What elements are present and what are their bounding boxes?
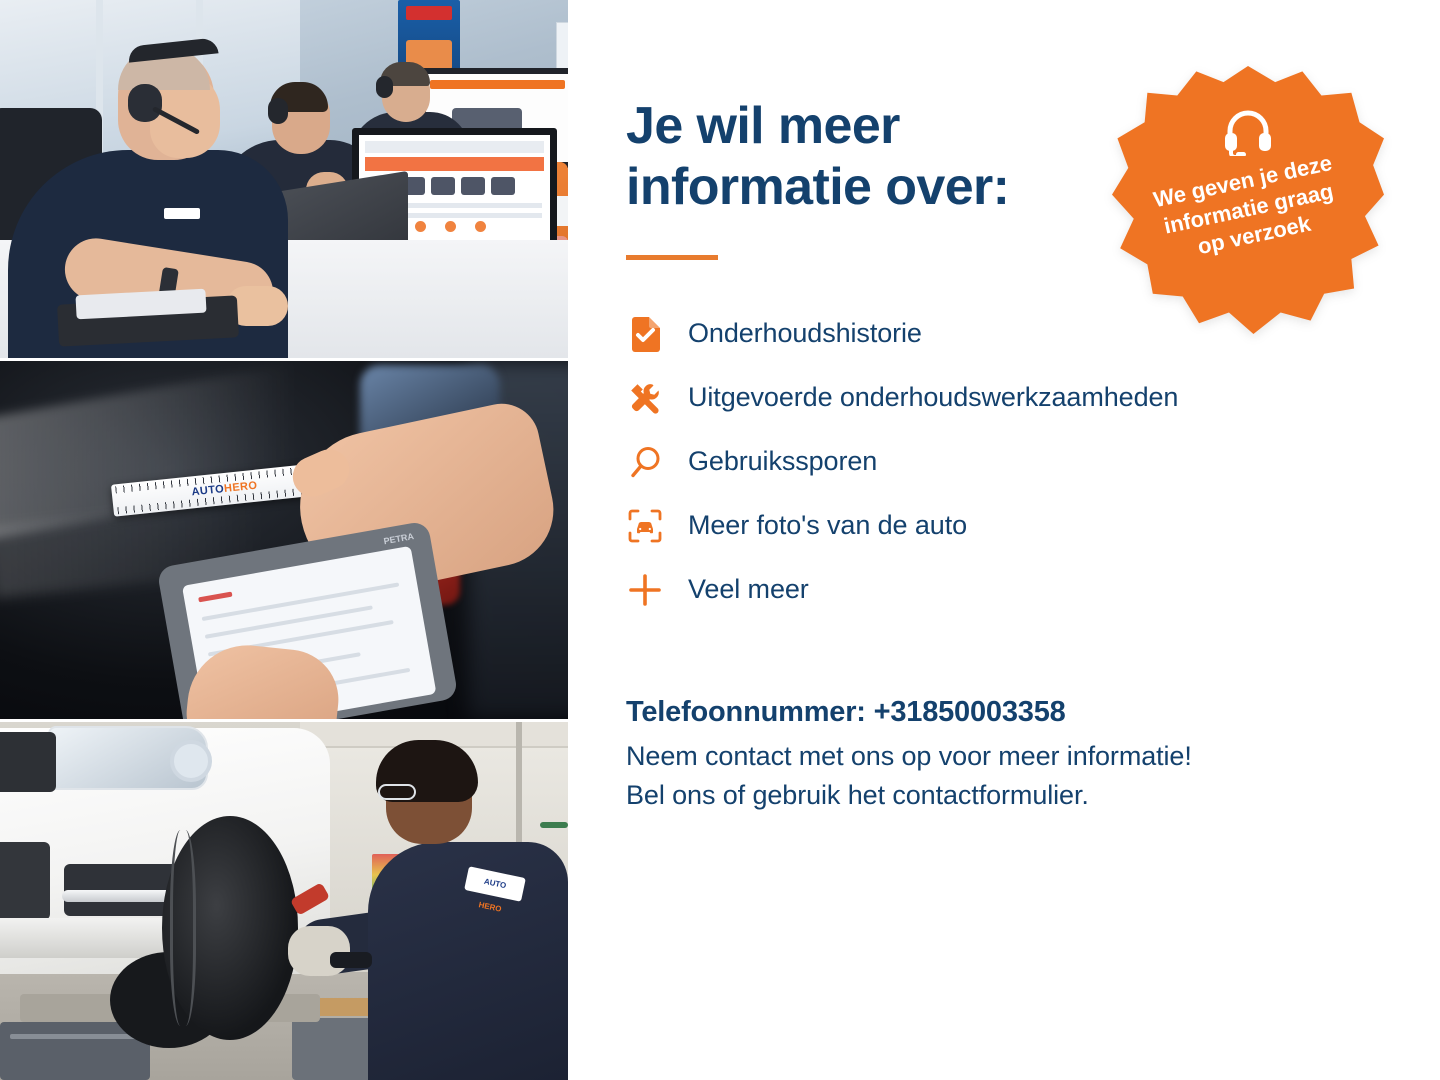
title-underline <box>626 255 718 260</box>
feature-label: Gebruikssporen <box>688 446 877 477</box>
feature-label: Meer foto's van de auto <box>688 510 967 541</box>
phone-number: Telefoonnummer: +31850003358 <box>626 696 1380 729</box>
promo-banner: AUTOHERO PETRA <box>0 0 1440 1080</box>
feature-item-meer-fotos: Meer foto's van de auto <box>626 494 1380 558</box>
contact-message: Neem contact met ons op voor meer inform… <box>626 737 1380 816</box>
feature-item-veel-meer: Veel meer <box>626 558 1380 622</box>
feature-label: Onderhoudshistorie <box>688 318 922 349</box>
feature-list: Onderhoudshistorie Uitgevoerde onderhoud… <box>626 302 1380 622</box>
car-grille <box>0 732 56 792</box>
loose-tire <box>162 816 298 1040</box>
tire-tread <box>170 830 196 1026</box>
tools-icon <box>626 379 664 417</box>
technician-glasses <box>378 784 416 800</box>
car-thumbnail <box>491 177 515 195</box>
technician-glove <box>288 926 350 976</box>
feature-icon <box>415 221 426 232</box>
contact-block: Telefoonnummer: +31850003358 Neem contac… <box>626 696 1380 816</box>
feature-item-gebruikssporen: Gebruikssporen <box>626 430 1380 494</box>
car-frame-icon <box>626 507 664 545</box>
call-center-agents-photo <box>0 0 568 358</box>
tablet-row <box>205 605 373 638</box>
feature-icon <box>445 221 456 232</box>
agent-1-headset-cup <box>128 84 162 122</box>
technician-wristband <box>330 952 372 968</box>
tablet-row <box>202 582 400 621</box>
car-side-intake <box>0 842 50 920</box>
workshop-tire-change-photo: AUTOHERO <box>0 722 568 1080</box>
car-inspection-ruler-photo: AUTOHERO PETRA <box>0 361 568 719</box>
wall-banner-header <box>406 6 452 20</box>
content-panel: Je wil meer informatie over: We geven je… <box>568 0 1440 1080</box>
browser-toolbar <box>365 141 544 153</box>
feature-label: Veel meer <box>688 574 809 605</box>
feature-icon <box>475 221 486 232</box>
feature-label: Uitgevoerde onderhoudswerkzaamheden <box>688 382 1178 413</box>
green-hose <box>540 822 568 828</box>
page-title: Je wil meer informatie over: <box>626 96 1096 219</box>
car-headlight <box>48 726 208 790</box>
agent-2-headset <box>268 98 288 124</box>
car-thumbnail <box>431 177 455 195</box>
tablet-brand-text: PETRA <box>383 531 415 546</box>
magnifier-icon <box>626 443 664 481</box>
headset-icon <box>1222 108 1274 161</box>
document-check-icon <box>626 315 664 353</box>
car-thumbnail <box>461 177 485 195</box>
tablet-alert-row <box>198 592 232 603</box>
photo-column: AUTOHERO PETRA <box>0 0 568 1080</box>
agent-3-headset <box>376 76 393 98</box>
site-header-band <box>365 157 544 171</box>
polo-shirt-logo <box>164 208 200 219</box>
feature-item-onderhoudswerkzaamheden: Uitgevoerde onderhoudswerkzaamheden <box>626 366 1380 430</box>
request-info-badge: We geven je deze informatie graag op ver… <box>1112 66 1384 334</box>
plus-icon <box>626 571 664 609</box>
headlight-projector <box>170 740 212 782</box>
